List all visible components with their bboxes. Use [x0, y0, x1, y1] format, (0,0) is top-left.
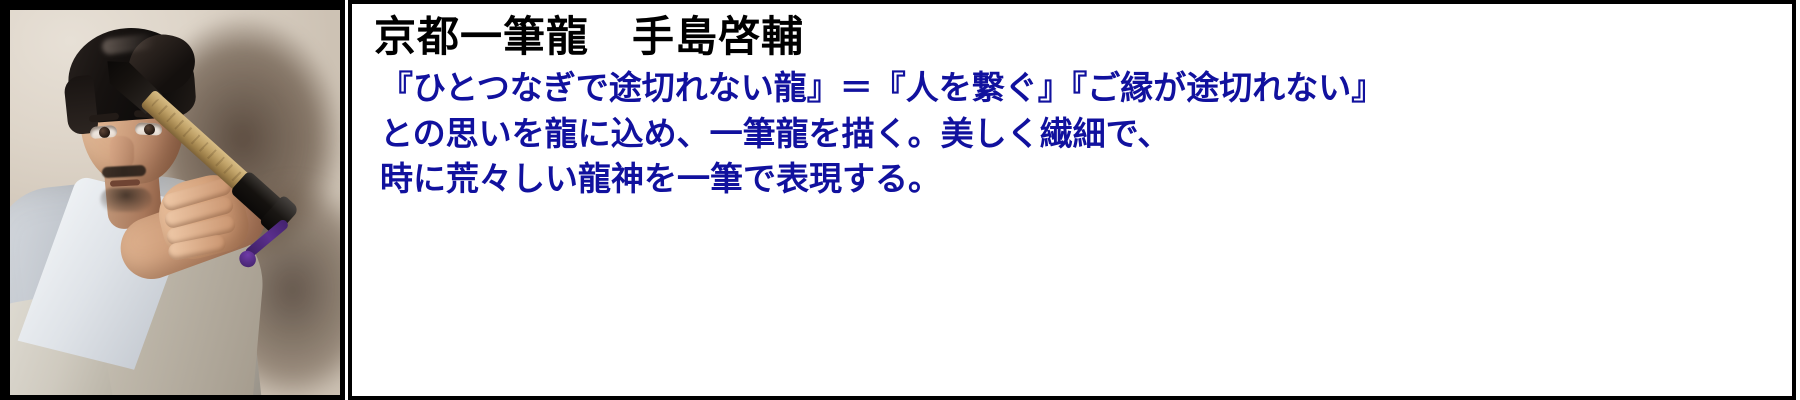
- artist-description-line-3: 時に荒々しい龍神を一筆で表現する。: [380, 156, 1792, 201]
- artist-text-panel: 京都一筆龍 手島啓輔 『ひとつなぎで途切れない龍』＝『人を繋ぐ』『ご縁が途切れな…: [348, 0, 1796, 400]
- artist-profile-banner: 京都一筆龍 手島啓輔 『ひとつなぎで途切れない龍』＝『人を繋ぐ』『ご縁が途切れな…: [0, 0, 1800, 400]
- pupil-left: [99, 126, 111, 138]
- beard: [100, 188, 152, 212]
- artist-description-line-1: 『ひとつなぎで途切れない龍』＝『人を繋ぐ』『ご縁が途切れない』: [380, 65, 1792, 110]
- artist-photo-panel: [0, 0, 345, 400]
- artist-description-line-2: との思いを龍に込め、一筆龍を描く。美しく繊細で、: [380, 111, 1792, 156]
- pupil-right: [144, 124, 156, 136]
- artist-title: 京都一筆龍 手島啓輔: [374, 14, 1792, 59]
- moustache: [102, 165, 147, 178]
- artist-photo: [10, 10, 345, 400]
